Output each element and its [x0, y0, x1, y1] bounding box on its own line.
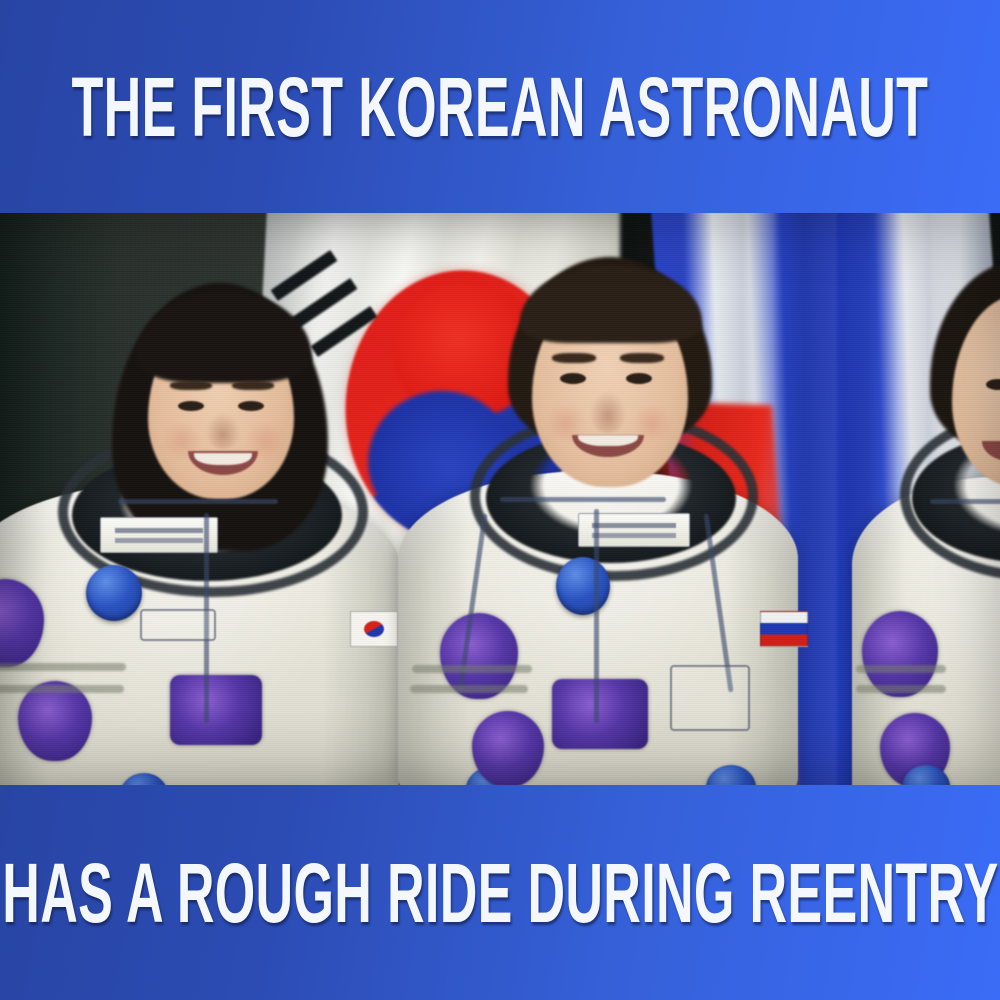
cheek: [160, 423, 204, 459]
eye: [560, 373, 586, 384]
astronaut-photo: [0, 213, 1000, 786]
suit-pocket: [140, 609, 216, 641]
nose: [590, 391, 626, 433]
mission-patch: [170, 675, 262, 745]
suit-valve: [86, 565, 142, 621]
nose: [206, 413, 240, 449]
suit-pocket: [670, 665, 750, 731]
top-caption-banner: THE FIRST KOREAN ASTRONAUT: [0, 0, 1000, 214]
suit-nametag: [100, 517, 218, 553]
suit-seam: [594, 509, 599, 723]
suit-seam: [500, 497, 666, 502]
russia-flag-patch: [760, 611, 808, 647]
suit-stripe: [856, 665, 946, 673]
korea-flag-patch: [350, 611, 398, 647]
suit-stripe: [0, 685, 124, 693]
meme-image: THE FIRST KOREAN ASTRONAUT: [0, 0, 1000, 1000]
suit-stripe: [410, 685, 528, 693]
bottom-caption-text: HAS A ROUGH RIDE DURING REENTRY: [2, 851, 998, 935]
eyebrow: [170, 381, 212, 390]
mission-patch: [18, 681, 92, 761]
suit-stripe: [412, 665, 532, 673]
eye: [238, 401, 264, 411]
suit-stripe: [856, 685, 946, 693]
eyebrow: [552, 353, 596, 363]
suit-seam: [930, 499, 1000, 504]
suit-valve: [556, 557, 610, 615]
eye: [178, 401, 204, 411]
eyebrow: [232, 381, 274, 390]
cheek: [244, 423, 288, 459]
top-caption-text: THE FIRST KOREAN ASTRONAUT: [72, 65, 929, 149]
eye: [626, 373, 652, 384]
cheek: [630, 405, 674, 441]
mission-patch: [552, 679, 648, 749]
bottom-caption-banner: HAS A ROUGH RIDE DURING REENTRY: [0, 785, 1000, 1000]
cheek: [544, 405, 588, 441]
eyebrow: [620, 353, 664, 363]
mission-patch: [472, 711, 544, 786]
suit-stripe: [0, 663, 126, 671]
suit-seam: [118, 499, 278, 504]
